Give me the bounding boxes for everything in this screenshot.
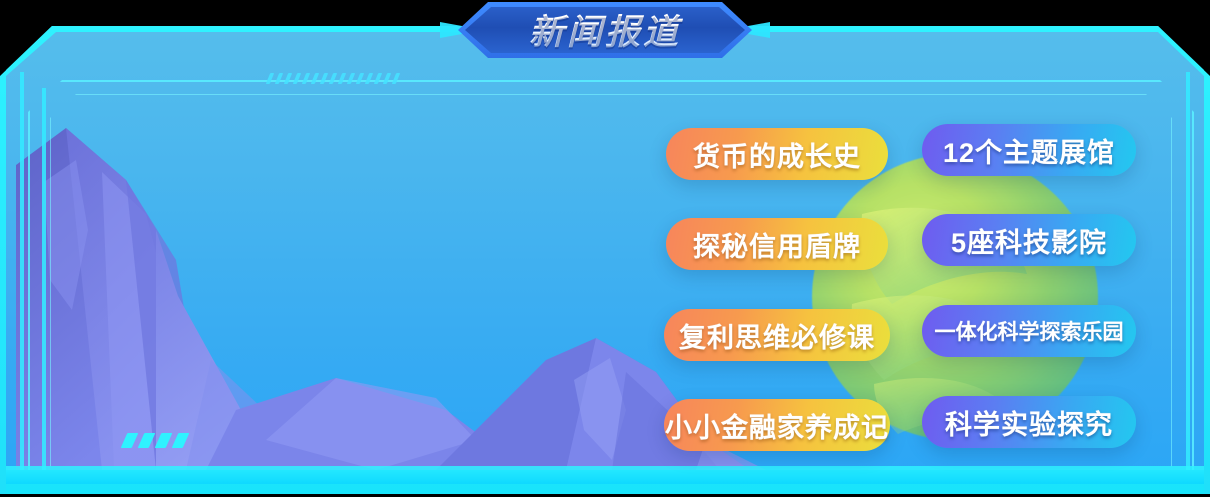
topic-pill-huobi[interactable]: 货币的成长史 xyxy=(666,128,888,180)
topic-pill-fuli[interactable]: 复利思维必修课 xyxy=(664,309,890,361)
topic-pill-shiyan[interactable]: 科学实验探究 xyxy=(922,396,1136,448)
poster-root: 货币的成长史 探秘信用盾牌 复利思维必修课 小小金融家养成记 12个主题展馆 5… xyxy=(0,0,1210,497)
topic-pill-xinyong[interactable]: 探秘信用盾牌 xyxy=(666,218,888,270)
bottom-left-stripe-decoration xyxy=(124,433,186,448)
banner-title-text: 新闻报道 xyxy=(458,2,752,58)
bottom-bar xyxy=(6,470,1204,484)
topic-pill-zhantiguan[interactable]: 12个主题展馆 xyxy=(922,124,1136,176)
main-panel: 货币的成长史 探秘信用盾牌 复利思维必修课 小小金融家养成记 12个主题展馆 5… xyxy=(6,32,1204,484)
top-dash-decoration xyxy=(268,73,398,84)
right-accent-bar xyxy=(1186,72,1190,484)
topic-pill-leyuan[interactable]: 一体化科学探索乐园 xyxy=(922,305,1136,357)
left-accent-bar-outer xyxy=(20,72,24,484)
title-banner: 新闻报道 xyxy=(458,2,752,58)
left-accent-bar-inner xyxy=(42,88,46,484)
topic-pill-yingyuan[interactable]: 5座科技影院 xyxy=(922,214,1136,266)
topic-pill-jinrongjia[interactable]: 小小金融家养成记 xyxy=(664,399,890,451)
